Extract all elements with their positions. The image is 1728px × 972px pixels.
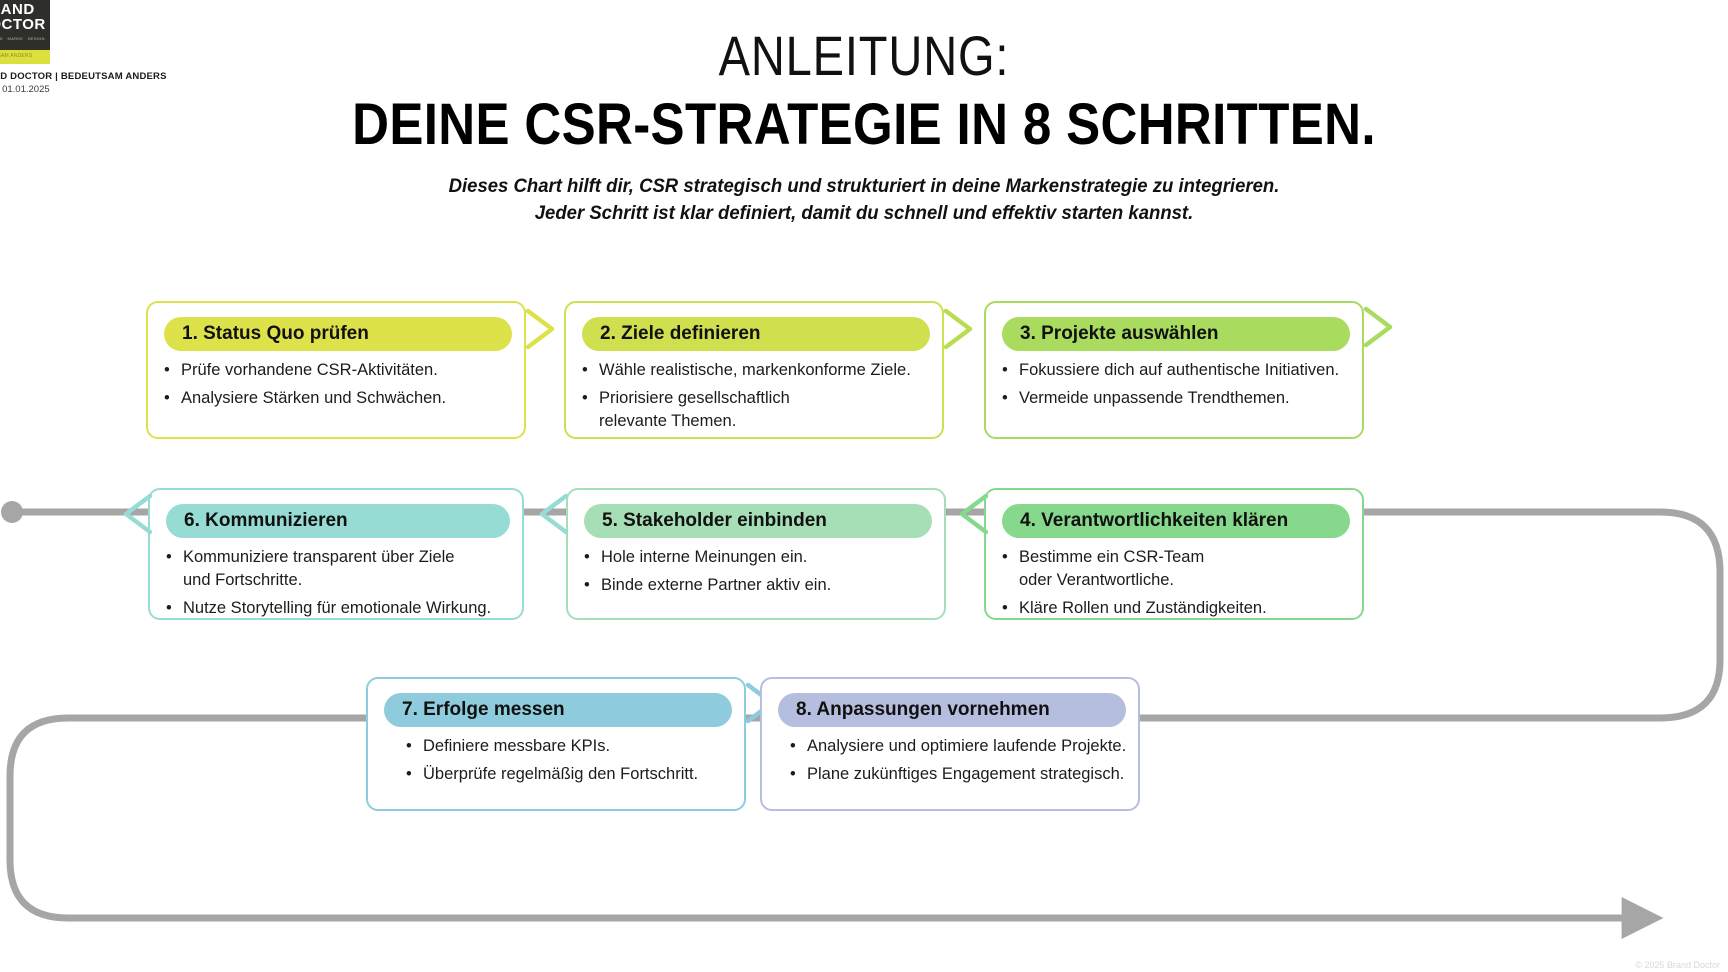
step-card-1-title: 1. Status Quo prüfen (182, 323, 369, 345)
bullet-text: Prüfe vorhandene CSR-Aktivitäten. (181, 359, 514, 382)
logo-mark-line2: DOCTOR (0, 17, 46, 33)
list-item: • Überprüfe regelmäßig den Fortschritt. (406, 763, 734, 786)
logo-mark-subtitle: STRATEGIE · MARKE · DESIGN (0, 36, 45, 41)
bullet-text: Nutze Storytelling für emotionale Wirkun… (183, 597, 512, 620)
bullet-text: Binde externe Partner aktiv ein. (601, 574, 934, 597)
step-card-3-header: 3. Projekte auswählen (1002, 317, 1350, 351)
list-item: • Kläre Rollen und Zuständigkeiten. (1002, 597, 1352, 620)
step-card-2-title: 2. Ziele definieren (600, 323, 761, 345)
connector-arrow-5-to-6 (524, 490, 572, 538)
step-card-8-header: 8. Anpassungen vornehmen (778, 693, 1126, 727)
step-card-2-header: 2. Ziele definieren (582, 317, 930, 351)
step-card-3-title: 3. Projekte auswählen (1020, 323, 1219, 345)
list-item: • Hole interne Meinungen ein. (584, 546, 934, 569)
list-item: • Definiere messbare KPIs. (406, 735, 734, 758)
bullet-icon: • (166, 597, 183, 620)
bullet-text: Wähle realistische, markenkonforme Ziele… (599, 359, 932, 382)
step-card-6-header: 6. Kommunizieren (166, 504, 510, 538)
step-card-8-title: 8. Anpassungen vornehmen (796, 699, 1050, 721)
page-title: DEINE CSR-STRATEGIE IN 8 SCHRITTEN. (104, 90, 1625, 160)
list-item: • Analysiere Stärken und Schwächen. (164, 387, 514, 410)
step-card-5-body: • Hole interne Meinungen ein. • Binde ex… (584, 546, 934, 602)
bullet-text: Hole interne Meinungen ein. (601, 546, 934, 569)
list-item: • Fokussiere dich auf authentische Initi… (1002, 359, 1352, 382)
step-card-6[interactable]: 6. Kommunizieren • Kommuniziere transpar… (148, 488, 524, 620)
copyright-note: © 2025 Brand Doctor (1635, 960, 1720, 970)
step-card-2[interactable]: 2. Ziele definieren • Wähle realistische… (564, 301, 944, 439)
step-card-4[interactable]: 4. Verantwortlichkeiten klären • Bestimm… (984, 488, 1364, 620)
step-card-3-body: • Fokussiere dich auf authentische Initi… (1002, 359, 1352, 415)
bullet-text: Analysiere Stärken und Schwächen. (181, 387, 514, 410)
step-card-5-header: 5. Stakeholder einbinden (584, 504, 932, 538)
bullet-text: Analysiere und optimiere laufende Projek… (807, 735, 1128, 758)
step-card-7[interactable]: 7. Erfolge messen • Definiere messbare K… (366, 677, 746, 811)
subtitle-line-1: Dieses Chart hilft dir, CSR strategisch … (43, 172, 1685, 200)
step-card-3[interactable]: 3. Projekte auswählen • Fokussiere dich … (984, 301, 1364, 439)
bullet-icon: • (584, 546, 601, 569)
connector-arrow-3-to-4 (1360, 303, 1408, 351)
bullet-text: Fokussiere dich auf authentische Initiat… (1019, 359, 1352, 382)
list-item: • Nutze Storytelling für emotionale Wirk… (166, 597, 512, 620)
list-item: • Kommuniziere transparent über Ziele un… (166, 546, 512, 592)
logo-accent-bar-text: BEDEUTSAM ANDERS (0, 53, 32, 59)
connector-arrow-2-to-3 (940, 305, 988, 353)
bullet-text: Vermeide unpassende Trendthemen. (1019, 387, 1352, 410)
step-card-4-title: 4. Verantwortlichkeiten klären (1020, 510, 1288, 532)
step-card-1-header: 1. Status Quo prüfen (164, 317, 512, 351)
logo-mark: BRAND DOCTOR STRATEGIE · MARKE · DESIGN (0, 0, 50, 50)
bullet-icon: • (406, 763, 423, 786)
step-card-7-title: 7. Erfolge messen (402, 699, 565, 721)
logo-accent-bar: BEDEUTSAM ANDERS (0, 50, 50, 64)
step-card-5-title: 5. Stakeholder einbinden (602, 510, 827, 532)
list-item: • Binde externe Partner aktiv ein. (584, 574, 934, 597)
bullet-text: Bestimme ein CSR-Team oder Verantwortlic… (1019, 546, 1352, 592)
step-card-4-header: 4. Verantwortlichkeiten klären (1002, 504, 1350, 538)
brand-logo: BRAND DOCTOR STRATEGIE · MARKE · DESIGN … (0, 0, 132, 50)
bullet-text: Kläre Rollen und Zuständigkeiten. (1019, 597, 1352, 620)
bullet-text: Definiere messbare KPIs. (423, 735, 734, 758)
list-item: • Analysiere und optimiere laufende Proj… (790, 735, 1128, 758)
step-card-5[interactable]: 5. Stakeholder einbinden • Hole interne … (566, 488, 946, 620)
eyebrow-title: ANLEITUNG: (138, 24, 1590, 88)
connector-arrow-1-to-2 (522, 305, 570, 353)
flow-start-dot (1, 501, 23, 523)
step-card-8[interactable]: 8. Anpassungen vornehmen • Analysiere un… (760, 677, 1140, 811)
subtitle-line-2: Jeder Schritt ist klar definiert, damit … (43, 199, 1685, 227)
step-card-6-title: 6. Kommunizieren (184, 510, 348, 532)
bullet-text: Plane zukünftiges Engagement strategisch… (807, 763, 1128, 786)
bullet-icon: • (406, 735, 423, 758)
step-card-4-body: • Bestimme ein CSR-Team oder Verantwortl… (1002, 546, 1352, 625)
bullet-icon: • (1002, 546, 1019, 569)
infographic-canvas: BRAND DOCTOR STRATEGIE · MARKE · DESIGN … (0, 0, 1728, 972)
bullet-icon: • (582, 387, 599, 410)
step-card-2-body: • Wähle realistische, markenkonforme Zie… (582, 359, 932, 438)
bullet-text: Überprüfe regelmäßig den Fortschritt. (423, 763, 734, 786)
bullet-icon: • (584, 574, 601, 597)
bullet-icon: • (166, 546, 183, 569)
bullet-icon: • (1002, 359, 1019, 382)
step-card-7-header: 7. Erfolge messen (384, 693, 732, 727)
step-card-1-body: • Prüfe vorhandene CSR-Aktivitäten. • An… (164, 359, 514, 415)
step-card-7-body: • Definiere messbare KPIs. • Überprüfe r… (406, 735, 734, 791)
bullet-icon: • (1002, 387, 1019, 410)
bullet-icon: • (1002, 597, 1019, 620)
list-item: • Prüfe vorhandene CSR-Aktivitäten. (164, 359, 514, 382)
step-card-8-body: • Analysiere und optimiere laufende Proj… (790, 735, 1128, 791)
bullet-text: Priorisiere gesellschaftlich relevante T… (599, 387, 932, 433)
step-card-6-body: • Kommuniziere transparent über Ziele un… (166, 546, 512, 625)
logo-date: Stand: 01.01.2025 (0, 84, 50, 95)
bullet-icon: • (790, 763, 807, 786)
bullet-icon: • (164, 359, 181, 382)
bullet-icon: • (790, 735, 807, 758)
list-item: • Vermeide unpassende Trendthemen. (1002, 387, 1352, 410)
list-item: • Priorisiere gesellschaftlich relevante… (582, 387, 932, 433)
bullet-text: Kommuniziere transparent über Ziele und … (183, 546, 512, 592)
step-card-1[interactable]: 1. Status Quo prüfen • Prüfe vorhandene … (146, 301, 526, 439)
list-item: • Bestimme ein CSR-Team oder Verantwortl… (1002, 546, 1352, 592)
bullet-icon: • (164, 387, 181, 410)
list-item: • Plane zukünftiges Engagement strategis… (790, 763, 1128, 786)
list-item: • Wähle realistische, markenkonforme Zie… (582, 359, 932, 382)
bullet-icon: • (582, 359, 599, 382)
